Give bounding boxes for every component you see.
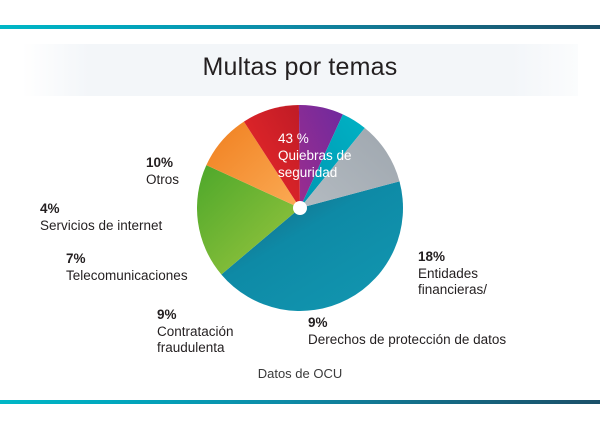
slide-canvas: Multas por temas	[0, 0, 600, 431]
slice-name-derechos: Derechos de protección de datos	[308, 332, 506, 349]
slice-label-servicios-de-internet: 4% Servicios de internet	[40, 201, 162, 234]
slice-label-telecomunicaciones: 7% Telecomunicaciones	[66, 251, 188, 284]
slice-name-contratacion-line1: Contratación	[157, 324, 234, 341]
pie-center-hub	[293, 201, 307, 215]
slice-value-entidades: 18%	[418, 249, 487, 266]
slice-name-entidades-line1: Entidades	[418, 266, 487, 283]
slice-value-quiebras: 43 %	[278, 130, 352, 147]
slice-value-contratacion: 9%	[157, 307, 234, 324]
slice-name-telecomunicaciones: Telecomunicaciones	[66, 268, 188, 285]
slice-name-entidades-line2: financieras/	[418, 282, 487, 299]
slice-label-quiebras-de-seguridad: 43 % Quiebras de seguridad	[278, 130, 352, 181]
slice-label-contratacion-fraudulenta: 9% Contratación fraudulenta	[157, 307, 234, 357]
page-title: Multas por temas	[0, 50, 600, 84]
slice-name-quiebras-line1: Quiebras de	[278, 147, 352, 164]
slice-value-derechos: 9%	[308, 315, 506, 332]
slice-value-servicios: 4%	[40, 201, 162, 218]
slice-name-otros: Otros	[146, 172, 179, 189]
slice-label-derechos-proteccion-datos: 9% Derechos de protección de datos	[308, 315, 506, 348]
source-note: Datos de OCU	[0, 366, 600, 381]
slice-value-telecomunicaciones: 7%	[66, 251, 188, 268]
slice-name-quiebras-line2: seguridad	[278, 164, 352, 181]
slice-label-entidades-financieras: 18% Entidades financieras/	[418, 249, 487, 299]
slice-label-otros: 10% Otros	[146, 155, 179, 188]
slice-value-otros: 10%	[146, 155, 179, 172]
slice-name-contratacion-line2: fraudulenta	[157, 340, 234, 357]
slice-name-servicios: Servicios de internet	[40, 218, 162, 235]
bottom-accent-rule	[0, 400, 600, 404]
top-accent-rule	[0, 25, 600, 29]
